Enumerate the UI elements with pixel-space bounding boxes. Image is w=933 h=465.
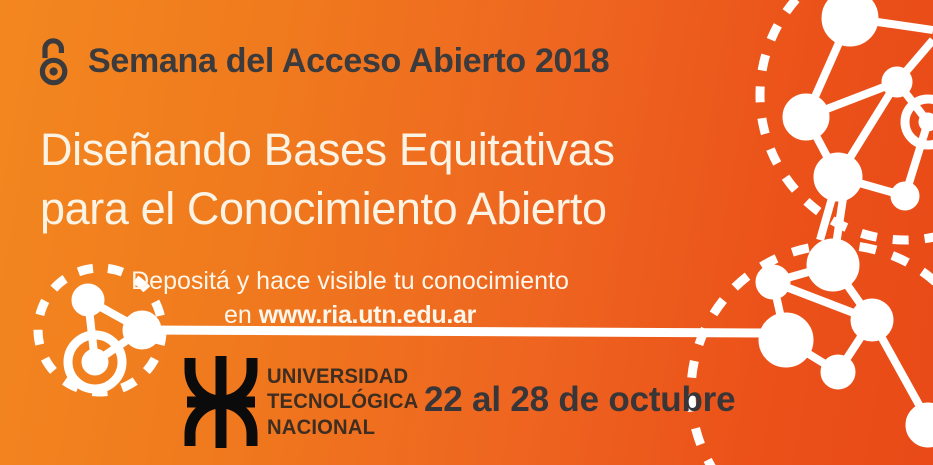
headline-line-1: Diseñando Bases Equitativas bbox=[40, 120, 615, 179]
open-access-lock-icon bbox=[34, 36, 74, 86]
utn-logo-lockup: UNIVERSIDAD TECNOLÓGICA NACIONAL bbox=[184, 352, 428, 452]
utn-sun-glyph-icon bbox=[184, 352, 258, 452]
repository-url[interactable]: www.ria.utn.edu.ar bbox=[259, 301, 476, 329]
subtitle-line-1: Depositá y hace visible tu conocimiento bbox=[0, 265, 700, 299]
open-access-week-banner: Semana del Acceso Abierto 2018 Diseñando… bbox=[0, 0, 933, 465]
event-dates: 22 al 28 de octubre bbox=[424, 380, 735, 420]
subtitle-line-2: en www.ria.utn.edu.ar bbox=[0, 299, 700, 333]
utn-wordmark-line-3: NACIONAL bbox=[267, 415, 418, 440]
headline-line-2: para el Conocimiento Abierto bbox=[40, 179, 615, 238]
utn-wordmark-line-2: TECNOLÓGICA bbox=[267, 389, 418, 414]
subtitle-prefix: en bbox=[224, 301, 259, 329]
utn-wordmark: UNIVERSIDAD TECNOLÓGICA NACIONAL bbox=[267, 364, 418, 440]
utn-wordmark-line-1: UNIVERSIDAD bbox=[267, 364, 418, 389]
headline: Diseñando Bases Equitativas para el Cono… bbox=[40, 120, 615, 239]
page-title: Semana del Acceso Abierto 2018 bbox=[88, 44, 609, 78]
subtitle: Depositá y hace visible tu conocimiento … bbox=[0, 265, 700, 333]
header-row: Semana del Acceso Abierto 2018 bbox=[34, 36, 609, 86]
